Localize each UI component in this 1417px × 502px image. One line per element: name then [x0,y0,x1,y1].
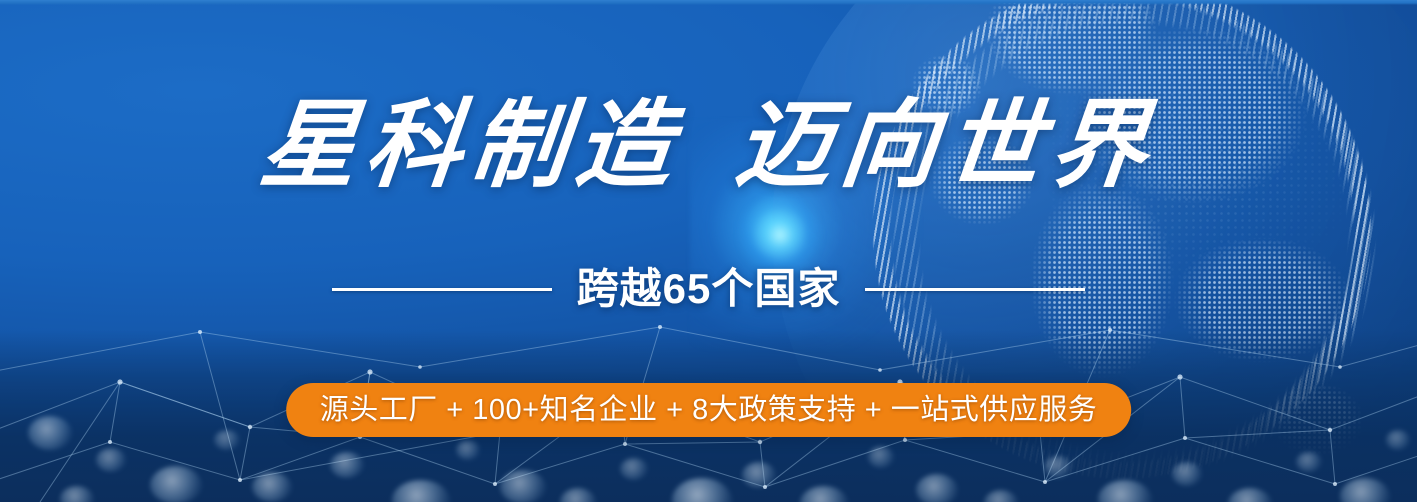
title-part-one: 星科制造 [256,98,686,194]
subtitle-rule-right [865,288,1085,291]
banner-content: 星科制造 迈向世界 跨越65个国家 源头工厂 + 100+知名企业 + 8大政策… [0,0,1417,502]
highlight-pill-label: 源头工厂 + 100+知名企业 + 8大政策支持 + 一站式供应服务 [320,396,1098,425]
banner-title: 星科制造 迈向世界 [0,98,1417,194]
subtitle-rule-left [332,288,552,291]
banner-subtitle-row: 跨越65个国家 [0,268,1417,310]
promotional-banner: 星科制造 迈向世界 跨越65个国家 源头工厂 + 100+知名企业 + 8大政策… [0,0,1417,502]
highlight-pill: 源头工厂 + 100+知名企业 + 8大政策支持 + 一站式供应服务 [286,383,1132,437]
banner-subtitle: 跨越65个国家 [577,268,841,310]
title-part-two: 迈向世界 [731,98,1161,194]
